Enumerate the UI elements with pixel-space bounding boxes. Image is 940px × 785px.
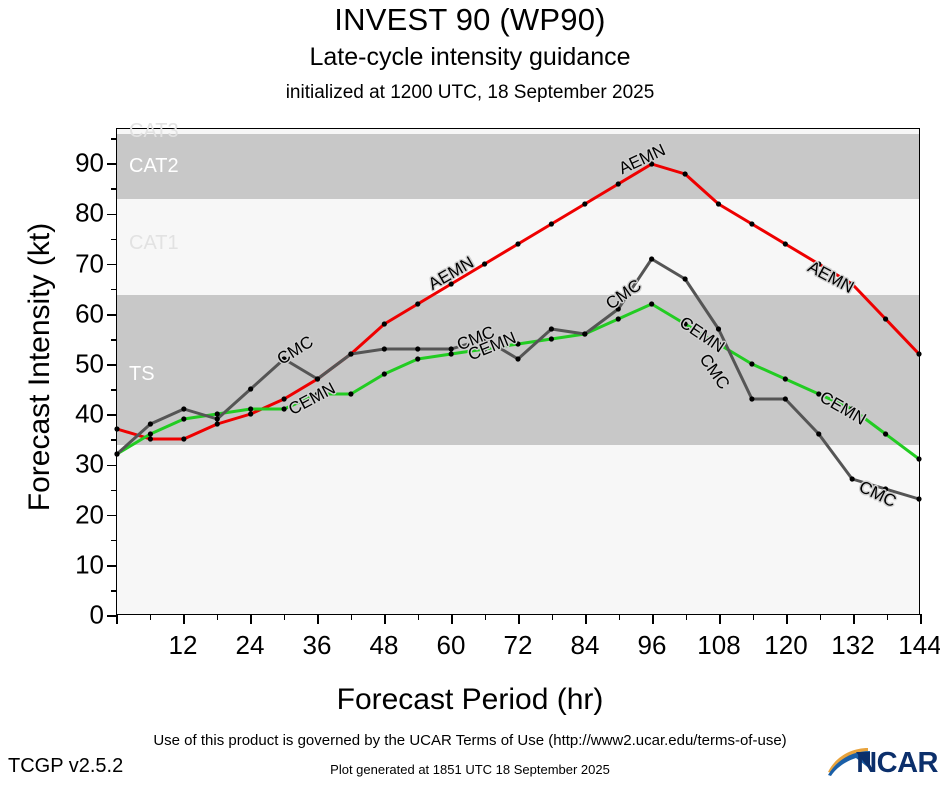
series-point-cmc-48 — [382, 346, 387, 351]
y-tick-label-40: 40 — [75, 399, 104, 430]
series-point-cmc-102 — [682, 276, 687, 281]
y-tick-50 — [107, 364, 117, 366]
y-tick-90 — [107, 163, 117, 165]
x-tick-label-132: 132 — [831, 630, 874, 661]
y-tick-30 — [107, 465, 117, 467]
x-tick-label-72: 72 — [504, 630, 533, 661]
series-point-aemn-108 — [716, 201, 721, 206]
series-point-cmc-42 — [348, 351, 353, 356]
x-tick-36 — [317, 614, 319, 624]
x-tick-144 — [920, 614, 922, 624]
series-point-cemn-78 — [549, 336, 554, 341]
series-point-cemn-30 — [281, 406, 286, 411]
series-point-cmc-78 — [549, 326, 554, 331]
series-point-cmc-132 — [850, 476, 855, 481]
x-tick-120 — [786, 614, 788, 624]
y-tick-label-80: 80 — [75, 198, 104, 229]
x-tick-minor-66 — [485, 614, 487, 620]
y-tick-label-50: 50 — [75, 348, 104, 379]
series-point-aemn-72 — [515, 241, 520, 246]
series-point-aemn-54 — [415, 301, 420, 306]
x-tick-minor-138 — [887, 614, 889, 620]
series-line-cmc — [117, 259, 919, 499]
y-tick-label-90: 90 — [75, 148, 104, 179]
series-point-cemn-96 — [649, 301, 654, 306]
series-point-cemn-60 — [449, 351, 454, 356]
x-tick-72 — [518, 614, 520, 624]
series-point-cemn-144 — [916, 456, 921, 461]
series-point-cmc-6 — [148, 421, 153, 426]
y-tick-label-60: 60 — [75, 298, 104, 329]
plot-area: TSCAT1CAT2CAT3 AEMNAEMNAEMNCEMNCEMNCEMNC… — [116, 128, 920, 615]
series-point-cemn-12 — [181, 416, 186, 421]
x-tick-minor-126 — [820, 614, 822, 620]
terms-of-use-text: Use of this product is governed by the U… — [0, 732, 940, 749]
series-point-cmc-120 — [783, 396, 788, 401]
x-tick-label-36: 36 — [303, 630, 332, 661]
x-tick-minor-90 — [619, 614, 621, 620]
x-tick-108 — [719, 614, 721, 624]
series-point-cemn-18 — [215, 411, 220, 416]
x-tick-0 — [116, 614, 118, 624]
y-tick-label-0: 0 — [90, 600, 104, 631]
x-tick-24 — [250, 614, 252, 624]
plot-generated-text: Plot generated at 1851 UTC 18 September … — [0, 762, 940, 777]
series-point-aemn-84 — [582, 201, 587, 206]
x-tick-label-60: 60 — [437, 630, 466, 661]
series-point-cmc-126 — [816, 431, 821, 436]
x-tick-minor-102 — [686, 614, 688, 620]
series-point-aemn-0 — [114, 426, 119, 431]
y-tick-label-10: 10 — [75, 549, 104, 580]
x-tick-label-24: 24 — [236, 630, 265, 661]
y-tick-label-70: 70 — [75, 248, 104, 279]
x-tick-minor-42 — [351, 614, 353, 620]
series-line-aemn — [117, 164, 919, 439]
x-tick-60 — [451, 614, 453, 624]
series-point-cmc-96 — [649, 256, 654, 261]
series-point-aemn-114 — [749, 221, 754, 226]
x-tick-96 — [652, 614, 654, 624]
x-tick-label-12: 12 — [169, 630, 198, 661]
x-tick-label-84: 84 — [571, 630, 600, 661]
series-point-cmc-12 — [181, 406, 186, 411]
x-tick-label-144: 144 — [898, 630, 940, 661]
series-point-aemn-6 — [148, 436, 153, 441]
y-tick-60 — [107, 314, 117, 316]
series-point-cemn-42 — [348, 391, 353, 396]
x-tick-132 — [853, 614, 855, 624]
y-tick-40 — [107, 414, 117, 416]
x-tick-label-120: 120 — [764, 630, 807, 661]
page-title: INVEST 90 (WP90) — [0, 2, 940, 38]
x-tick-84 — [585, 614, 587, 624]
chart-page: INVEST 90 (WP90) Late-cycle intensity gu… — [0, 0, 940, 780]
initialization-time: initialized at 1200 UTC, 18 September 20… — [0, 82, 940, 104]
y-tick-20 — [107, 515, 117, 517]
series-point-cmc-84 — [582, 331, 587, 336]
series-point-aemn-66 — [482, 261, 487, 266]
x-tick-minor-54 — [418, 614, 420, 620]
page-subtitle: Late-cycle intensity guidance — [0, 43, 940, 72]
series-point-cmc-72 — [515, 356, 520, 361]
series-point-cmc-114 — [749, 396, 754, 401]
x-tick-label-96: 96 — [638, 630, 667, 661]
x-tick-minor-78 — [552, 614, 554, 620]
series-point-cmc-60 — [449, 346, 454, 351]
series-line-cemn — [117, 304, 919, 459]
x-tick-minor-30 — [284, 614, 286, 620]
ncar-logo: NCAR — [826, 742, 938, 780]
series-point-cemn-24 — [248, 406, 253, 411]
series-point-aemn-102 — [682, 171, 687, 176]
x-tick-48 — [384, 614, 386, 624]
x-tick-minor-18 — [217, 614, 219, 620]
x-axis-title: Forecast Period (hr) — [0, 683, 940, 717]
series-point-aemn-90 — [616, 181, 621, 186]
series-point-cmc-108 — [716, 326, 721, 331]
series-point-aemn-144 — [916, 351, 921, 356]
series-point-aemn-48 — [382, 321, 387, 326]
series-point-cemn-48 — [382, 371, 387, 376]
series-point-aemn-12 — [181, 436, 186, 441]
series-point-aemn-18 — [215, 421, 220, 426]
version-text: TCGP v2.5.2 — [8, 755, 123, 778]
series-point-cmc-36 — [315, 376, 320, 381]
series-point-cemn-114 — [749, 361, 754, 366]
series-point-aemn-24 — [248, 411, 253, 416]
series-point-aemn-120 — [783, 241, 788, 246]
series-point-cmc-18 — [215, 416, 220, 421]
x-tick-minor-114 — [753, 614, 755, 620]
y-tick-label-20: 20 — [75, 499, 104, 530]
x-tick-label-48: 48 — [370, 630, 399, 661]
series-point-cmc-24 — [248, 386, 253, 391]
x-axis-labels: 1224364860728496108120132144 — [116, 630, 920, 664]
y-tick-10 — [107, 565, 117, 567]
series-point-cemn-90 — [616, 316, 621, 321]
y-tick-80 — [107, 214, 117, 216]
series-point-cmc-0 — [114, 451, 119, 456]
series-point-cemn-6 — [148, 431, 153, 436]
x-tick-12 — [183, 614, 185, 624]
series-point-cemn-120 — [783, 376, 788, 381]
series-point-cemn-54 — [415, 356, 420, 361]
series-point-cemn-138 — [883, 431, 888, 436]
y-tick-70 — [107, 264, 117, 266]
series-point-cmc-144 — [916, 496, 921, 501]
series-point-aemn-78 — [549, 221, 554, 226]
forecast-series-plot — [117, 129, 919, 614]
x-tick-minor-6 — [150, 614, 152, 620]
y-axis-labels: 0102030405060708090 — [34, 128, 104, 615]
ncar-logo-text: NCAR — [856, 747, 938, 780]
y-tick-label-30: 30 — [75, 449, 104, 480]
x-tick-label-108: 108 — [697, 630, 740, 661]
series-point-cmc-54 — [415, 346, 420, 351]
series-point-aemn-138 — [883, 316, 888, 321]
